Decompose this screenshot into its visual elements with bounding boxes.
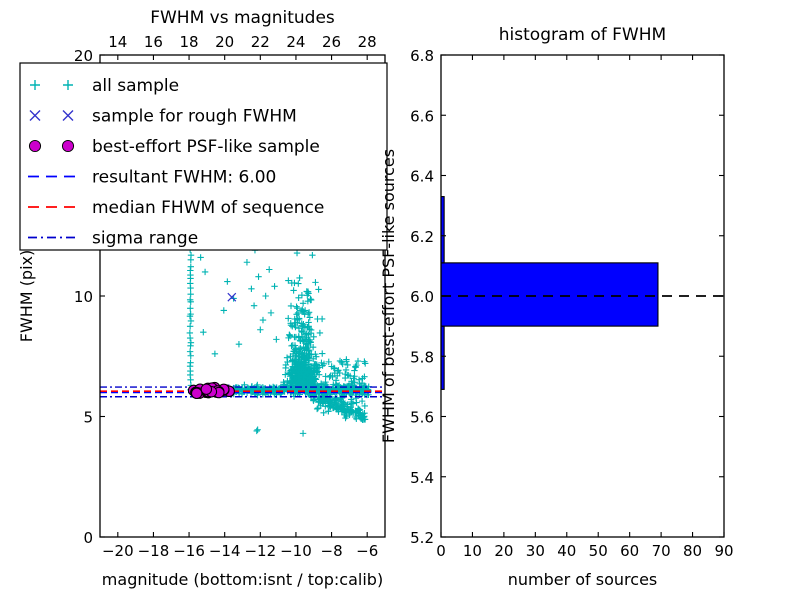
legend-dot-icon [62,140,73,151]
x-tick-label: −14 [209,542,241,560]
x-top-tick-label: 14 [108,33,127,51]
x-top-tick-label: 26 [322,33,341,51]
right-x-tick-label: 0 [436,542,446,560]
left-panel-title: FWHM vs magnitudes [150,8,335,28]
right-panel: 01020304050607080905.25.45.65.86.06.26.4… [379,25,734,589]
series-psf-like [188,382,234,398]
right-y-tick-label: 5.2 [410,529,434,547]
right-x-tick-label: 10 [463,542,482,560]
right-y-tick-label: 6.6 [410,107,434,125]
legend-label: all sample [92,76,179,96]
legend-label: resultant FWHM: 6.00 [92,168,276,188]
right-x-tick-label: 50 [589,542,608,560]
chart-svg: −20−18−16−14−12−10−8−6141618202224262805… [0,0,800,600]
x-top-tick-label: 16 [144,33,163,51]
y-tick-label: 20 [74,47,93,65]
x-tick-label: −6 [356,542,378,560]
figure-canvas: −20−18−16−14−12−10−8−6141618202224262805… [0,0,800,600]
x-tick-label: −20 [102,542,134,560]
left-bottom-ticks: −20−18−16−14−12−10−8−6 [102,532,378,560]
right-ylabel: FWHM of best-effort PSF-like sources [379,149,398,443]
histogram-bar [441,263,658,326]
right-x-tick-label: 30 [526,542,545,560]
series-rough-fwhm [197,293,236,396]
x-tick-label: −8 [321,542,343,560]
right-x-tick-label: 40 [557,542,576,560]
y-tick-label: 10 [74,288,93,306]
x-top-tick-label: 22 [251,33,270,51]
left-top-ticks: 1416182022242628 [108,33,376,60]
right-y-tick-label: 5.6 [410,409,434,427]
right-x-tick-label: 20 [494,542,513,560]
right-y-tick-label: 6.2 [410,228,434,246]
left-xlabel: magnitude (bottom:isnt / top:calib) [102,570,383,589]
right-x-tick-label: 70 [652,542,671,560]
right-y-tick-label: 5.8 [410,348,434,366]
right-y-tick-label: 6.0 [410,288,434,306]
x-tick-label: −16 [173,542,205,560]
right-y-tick-label: 6.8 [410,47,434,65]
legend-label: sigma range [92,229,198,249]
x-tick-label: −10 [280,542,312,560]
right-x-tick-label: 80 [683,542,702,560]
x-top-tick-label: 18 [180,33,199,51]
right-x-tick-label: 60 [620,542,639,560]
legend-label: median FHWM of sequence [92,198,324,218]
legend-label: sample for rough FWHM [92,107,297,127]
x-top-tick-label: 28 [358,33,377,51]
right-x-tick-label: 90 [714,542,733,560]
y-tick-label: 0 [83,529,93,547]
left-ylabel: FWHM (pix) [17,250,36,343]
x-tick-label: −18 [138,542,170,560]
right-y-tick-label: 5.4 [410,469,434,487]
right-y-tick-label: 6.4 [410,168,434,186]
y-tick-label: 5 [83,409,93,427]
legend: all samplesample for rough FWHMbest-effo… [20,63,387,250]
x-top-tick-label: 20 [215,33,234,51]
x-tick-label: −12 [244,542,276,560]
histogram-bars [441,197,658,390]
legend-label: best-effort PSF-like sample [92,137,320,157]
x-top-tick-label: 24 [286,33,305,51]
right-panel-title: histogram of FWHM [499,25,666,45]
legend-dot-icon [29,140,40,151]
right-xlabel: number of sources [508,570,658,589]
series-all-sample [187,228,372,436]
